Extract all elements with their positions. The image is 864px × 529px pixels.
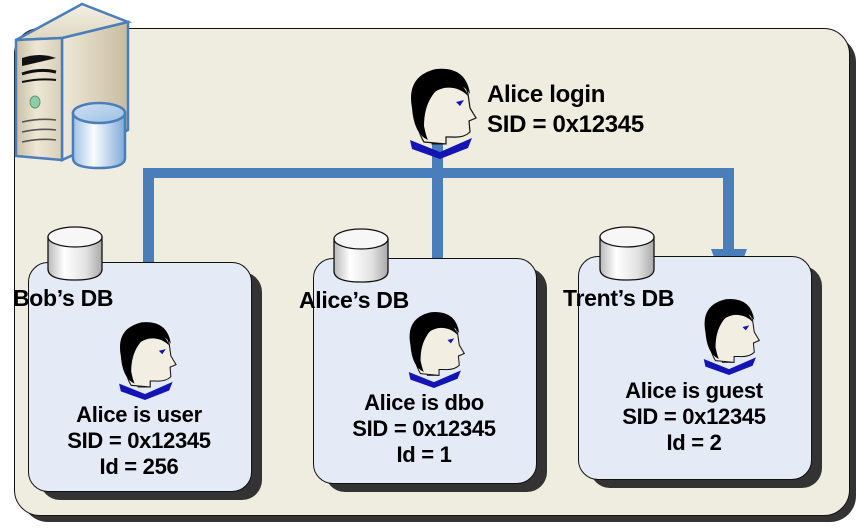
- db-id-2: Id = 1: [313, 442, 535, 468]
- diagram-canvas: Alice login SID = 0x12345: [0, 0, 864, 529]
- db-text-1: Alice is user SID = 0x12345 Id = 256: [28, 402, 250, 480]
- person-profile-icon-login: [394, 64, 486, 159]
- db-label-3: Trent’s DB: [563, 285, 674, 312]
- person-profile-icon-1: [105, 318, 185, 400]
- db-sid-1: SID = 0x12345: [28, 428, 250, 454]
- db-label-2: Alice’s DB: [299, 287, 409, 314]
- db-id-3: Id = 2: [578, 430, 810, 456]
- person-profile-icon-2: [395, 308, 473, 388]
- db-role-3: Alice is guest: [578, 378, 810, 404]
- db-sid-2: SID = 0x12345: [313, 416, 535, 442]
- database-cylinder-icon-3: [596, 224, 658, 282]
- login-sid: SID = 0x12345: [487, 110, 644, 140]
- database-cylinder-icon-2: [330, 226, 392, 284]
- database-cylinder-icon-1: [44, 224, 106, 282]
- login-caption: Alice login SID = 0x12345: [487, 80, 644, 140]
- db-role-1: Alice is user: [28, 402, 250, 428]
- database-cylinder-icon-server: [73, 103, 125, 168]
- server-tower-icon: [0, 0, 132, 170]
- db-text-2: Alice is dbo SID = 0x12345 Id = 1: [313, 390, 535, 468]
- login-title: Alice login: [487, 80, 644, 110]
- db-id-1: Id = 256: [28, 454, 250, 480]
- db-role-2: Alice is dbo: [313, 390, 535, 416]
- person-profile-icon-3: [690, 295, 768, 375]
- db-label-1: Bob’s DB: [13, 285, 113, 312]
- db-text-3: Alice is guest SID = 0x12345 Id = 2: [578, 378, 810, 456]
- db-sid-3: SID = 0x12345: [578, 404, 810, 430]
